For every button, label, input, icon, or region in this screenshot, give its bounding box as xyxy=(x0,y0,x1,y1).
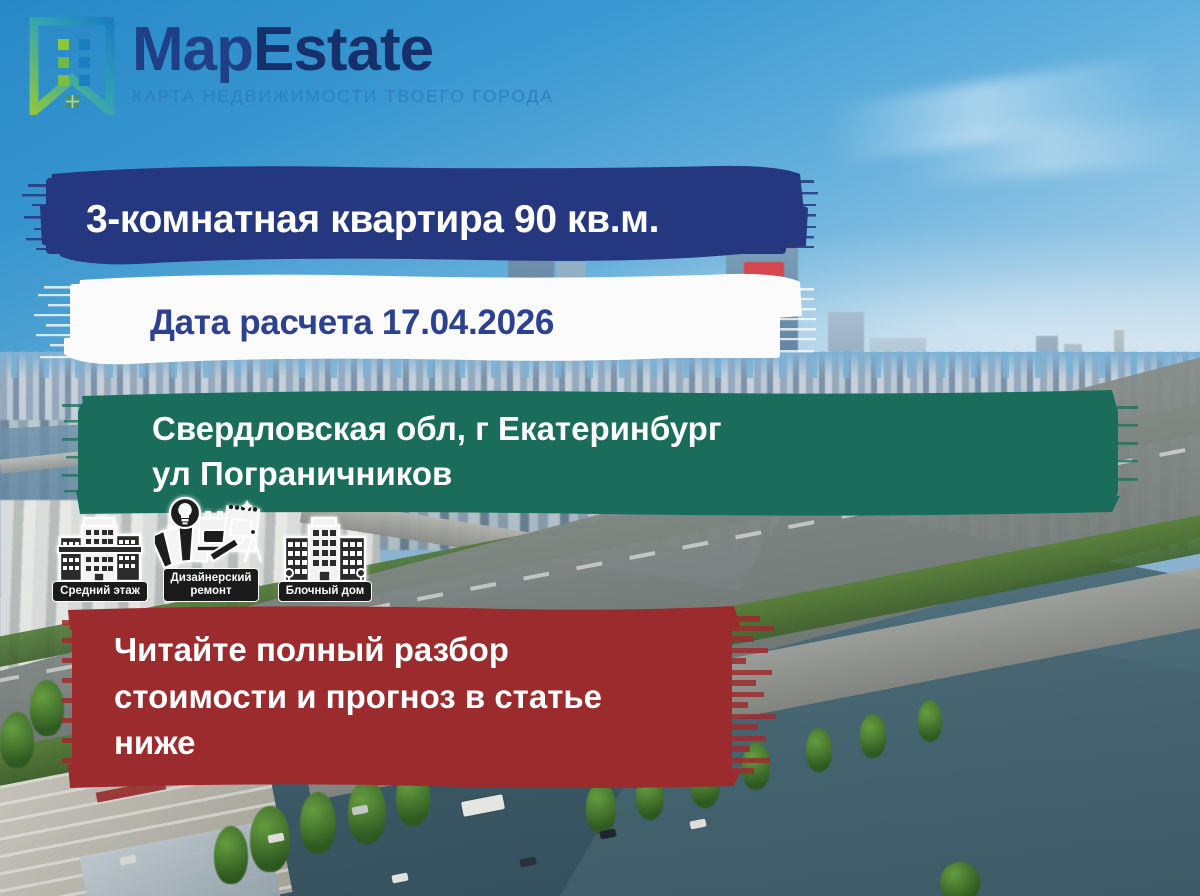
cta-line-3: ниже xyxy=(114,720,602,767)
panel-block-house-icon xyxy=(279,513,371,587)
brand-name-map: Map xyxy=(132,15,253,84)
mid-rise-building-icon xyxy=(56,515,144,587)
property-title-text: 3-комнатная квартира 90 кв.м. xyxy=(86,198,659,242)
badge-house-type[interactable]: Блочный дом xyxy=(276,513,374,602)
feature-badges: Средний этаж xyxy=(52,506,374,602)
brand-name-estate: Estate xyxy=(253,15,433,84)
promo-card: MapEstate КАРТА НЕДВИЖИМОСТИ ТВОЕГО ГОРО… xyxy=(0,0,1200,896)
bookmark-building-icon xyxy=(28,17,116,115)
calculation-date-banner: Дата расчета 17.04.2026 xyxy=(30,268,820,378)
badge-house-type-label: Блочный дом xyxy=(278,581,373,602)
badge-mid-floor[interactable]: Средний этаж xyxy=(52,515,148,602)
badge-designer-renovation[interactable]: Дизайнерский ремонт xyxy=(152,496,270,602)
cta-text: Читайте полный разбор стоимости и прогно… xyxy=(114,627,602,768)
property-title-banner: 3-комнатная квартира 90 кв.м. xyxy=(18,158,818,282)
calculation-date-text: Дата расчета 17.04.2026 xyxy=(150,303,554,343)
cta-line-2: стоимости и прогноз в статье xyxy=(114,674,602,721)
brand-wordmark: MapEstate КАРТА НЕДВИЖИМОСТИ ТВОЕГО ГОРО… xyxy=(132,21,554,107)
address-line-1: Свердловская обл, г Екатеринбург xyxy=(152,407,722,452)
cta-banner: Читайте полный разбор стоимости и прогно… xyxy=(62,604,784,790)
brand-name: MapEstate xyxy=(132,21,554,80)
designer-renovation-icon xyxy=(155,496,267,574)
brand-tagline: КАРТА НЕДВИЖИМОСТИ ТВОЕГО ГОРОДА xyxy=(132,86,554,107)
address-text: Свердловская обл, г Екатеринбург ул Погр… xyxy=(152,407,722,496)
cta-line-1: Читайте полный разбор xyxy=(114,627,602,674)
address-line-2: ул Пограничников xyxy=(152,452,722,497)
badge-mid-floor-label: Средний этаж xyxy=(52,581,148,602)
badge-designer-renovation-label: Дизайнерский ремонт xyxy=(163,568,260,602)
brand-header: MapEstate КАРТА НЕДВИЖИМОСТИ ТВОЕГО ГОРО… xyxy=(0,0,1200,132)
